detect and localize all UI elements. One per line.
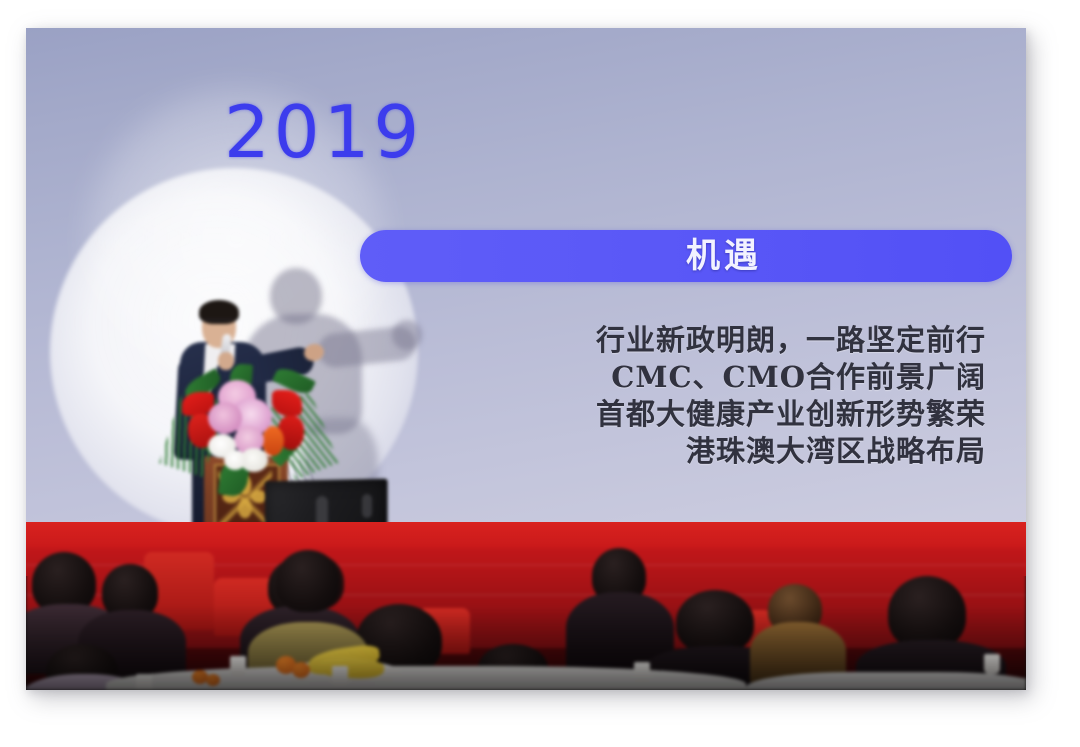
page-root: 2019 机遇 行业新政明朗，一路坚定前行 CMC、CMO合作前景广阔 首都大健… bbox=[0, 0, 1080, 747]
event-photograph: 2019 机遇 行业新政明朗，一路坚定前行 CMC、CMO合作前景广阔 首都大健… bbox=[26, 28, 1026, 690]
slide-body-line-3: 首都大健康产业创新形势繁荣 bbox=[326, 396, 986, 433]
paper-cup bbox=[634, 662, 650, 682]
flower-arrangement bbox=[174, 368, 324, 498]
paper-cup bbox=[332, 666, 348, 686]
slide-banner-label: 机遇 bbox=[398, 230, 1026, 282]
audience-head bbox=[676, 590, 754, 654]
glasses-icon bbox=[203, 319, 235, 328]
slide-body-line-1: 行业新政明朗，一路坚定前行 bbox=[326, 322, 986, 359]
paper-cup bbox=[984, 654, 1000, 674]
audience-foreground bbox=[26, 548, 1026, 690]
slide-year-text: 2019 bbox=[224, 90, 423, 174]
audience-head bbox=[888, 576, 966, 650]
slide-body-line-4: 港珠澳大湾区战略布局 bbox=[326, 433, 986, 470]
slide-body-line-2: CMC、CMO合作前景广阔 bbox=[326, 359, 986, 396]
slide-body-text: 行业新政明朗，一路坚定前行 CMC、CMO合作前景广阔 首都大健康产业创新形势繁… bbox=[326, 322, 986, 470]
paper-cup bbox=[230, 656, 246, 676]
paper-cup bbox=[136, 674, 152, 690]
banquet-table bbox=[746, 672, 1026, 690]
slide-banner-pill: 机遇 bbox=[360, 230, 1012, 282]
